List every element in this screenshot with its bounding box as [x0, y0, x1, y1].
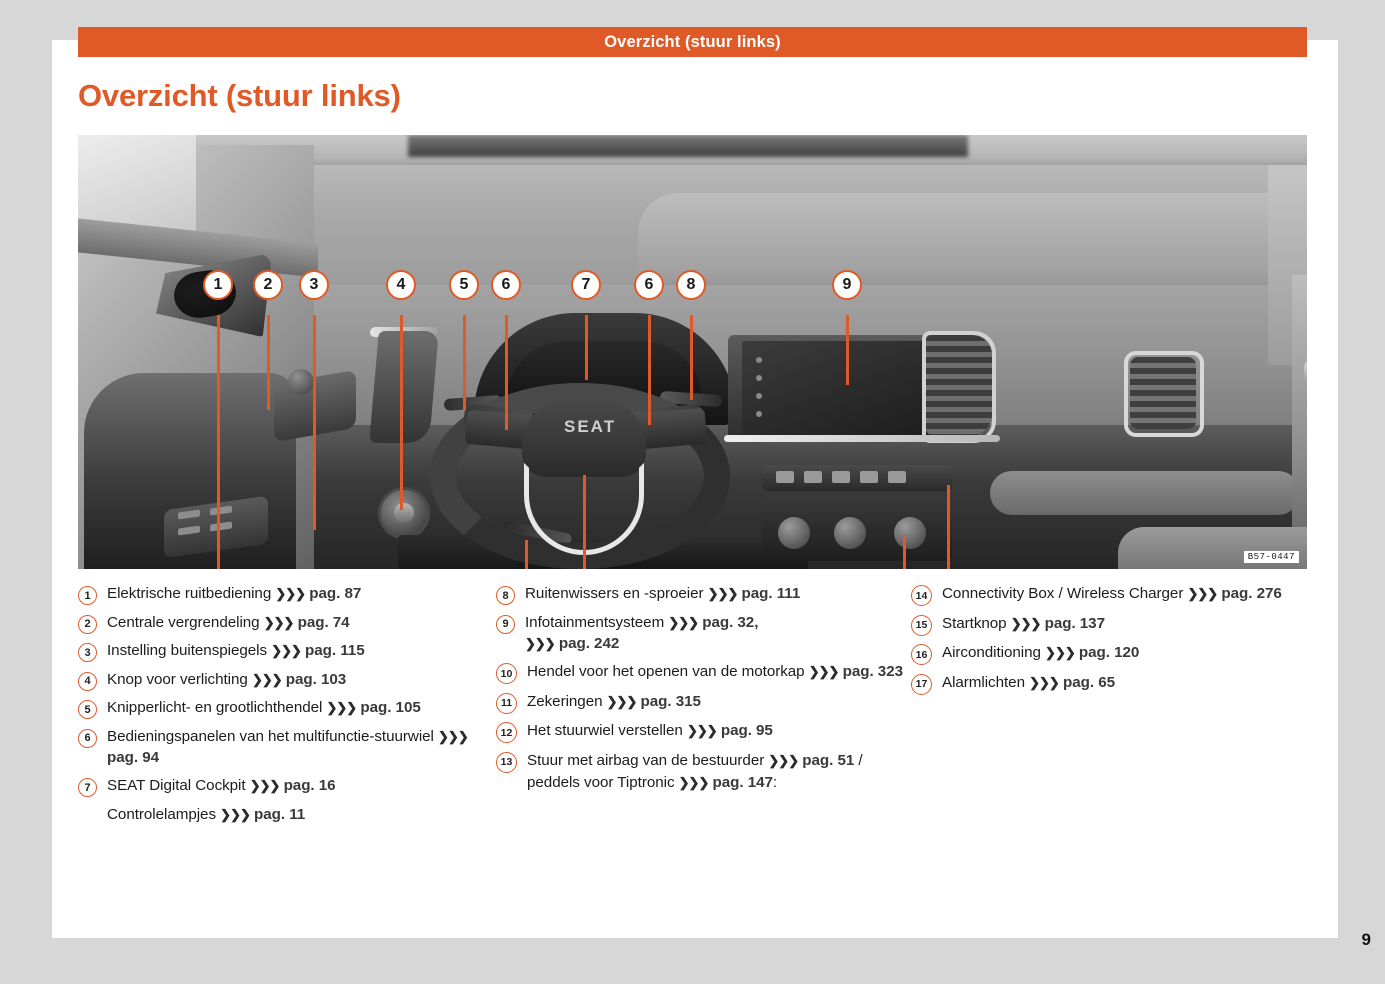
glovebox-lid [990, 471, 1300, 515]
callout-leader-4 [400, 315, 403, 510]
center-vent-chrome [922, 331, 996, 443]
left-air-vent [369, 331, 439, 443]
figure-callout-3[interactable]: 3 [299, 270, 329, 300]
cross-reference-arrows-icon: ❯❯❯ [687, 723, 717, 738]
photo-reference-code: B57-0447 [1244, 551, 1299, 563]
legend-label: Bedieningspanelen van het multifunctie-s… [107, 726, 496, 769]
page-reference[interactable]: pag. 115 [301, 642, 365, 659]
legend-item-3: 3Instelling buitenspiegels ❯❯❯ pag. 115 [78, 640, 496, 662]
legend-marker-8: 8 [496, 586, 515, 605]
legend-marker-11: 11 [496, 693, 517, 714]
callout-leader-16 [903, 535, 906, 569]
legend-column-3: 14Connectivity Box / Wireless Charger ❯❯… [911, 583, 1307, 883]
page-number: 9 [1362, 930, 1371, 950]
console-button-2 [804, 471, 822, 483]
legend-label: Ruitenwissers en -sproeier ❯❯❯ pag. 111 [525, 583, 800, 605]
page-reference[interactable]: pag. 105 [356, 699, 421, 716]
page-reference[interactable]: pag. 11 [250, 806, 305, 823]
running-header-title: Overzicht (stuur links) [604, 33, 781, 52]
console-button-4 [860, 471, 878, 483]
callout-leader-13 [583, 475, 586, 569]
cross-reference-arrows-icon: ❯❯❯ [1029, 675, 1059, 690]
cross-reference-arrows-icon: ❯❯❯ [275, 586, 305, 601]
legend-marker-14: 14 [911, 585, 932, 606]
legend-marker-5: 5 [78, 700, 97, 719]
page-reference[interactable]: pag. 111 [737, 585, 800, 602]
cross-reference-arrows-icon: ❯❯❯ [607, 694, 637, 709]
page-title: Overzicht (stuur links) [78, 78, 401, 114]
legend-item-9: 9Infotainmentsysteem ❯❯❯ pag. 32,❯❯❯ pag… [496, 612, 911, 655]
passenger-vent-chrome [1124, 351, 1204, 437]
infotainment-key-1 [756, 357, 762, 363]
legend-item-12: 12Het stuurwiel verstellen ❯❯❯ pag. 95 [496, 720, 911, 743]
callout-leader-7 [585, 315, 588, 380]
callout-leader-1 [217, 315, 220, 569]
legend-item-13: 13Stuur met airbag van de bestuurder ❯❯❯… [496, 750, 911, 793]
passenger-door-handle [1304, 361, 1307, 383]
legend-item-continuation: Controlelampjes ❯❯❯ pag. 11 [78, 804, 496, 826]
legend-item-5: 5Knipperlicht- en grootlichthendel ❯❯❯ p… [78, 697, 496, 719]
legend-label: Instelling buitenspiegels ❯❯❯ pag. 115 [107, 640, 365, 662]
cross-reference-arrows-icon: ❯❯❯ [708, 586, 738, 601]
legend-marker-2: 2 [78, 615, 97, 634]
infotainment-key-3 [756, 393, 762, 399]
legend-item-17: 17Alarmlichten ❯❯❯ pag. 65 [911, 672, 1307, 695]
dashboard-photo: SEAT [78, 135, 1307, 569]
callout-leader-17 [947, 485, 950, 569]
legend-column-1: 1Elektrische ruitbediening ❯❯❯ pag. 872C… [78, 583, 496, 883]
figure-callout-4[interactable]: 4 [386, 270, 416, 300]
cross-reference-arrows-icon: ❯❯❯ [679, 775, 709, 790]
legend-item-6: 6Bedieningspanelen van het multifunctie-… [78, 726, 496, 769]
legend-marker-16: 16 [911, 644, 932, 665]
legend-item-16: 16Airconditioning ❯❯❯ pag. 120 [911, 642, 1307, 665]
figure-callout-7[interactable]: 7 [571, 270, 601, 300]
climate-knob-right [894, 517, 926, 549]
cross-reference-arrows-icon: ❯❯❯ [327, 700, 357, 715]
cross-reference-arrows-icon: ❯❯❯ [220, 807, 250, 822]
page-reference[interactable]: pag. 103 [282, 671, 347, 688]
infotainment-key-4 [756, 411, 762, 417]
page-reference[interactable]: pag. 147 [708, 774, 773, 791]
page-reference[interactable]: pag. 120 [1075, 644, 1140, 661]
running-header-bar: Overzicht (stuur links) [78, 27, 1307, 57]
seat-logo: SEAT [564, 417, 606, 437]
cross-reference-arrows-icon: ❯❯❯ [438, 729, 468, 744]
infotainment-key-2 [756, 375, 762, 381]
legend-label: Startknop ❯❯❯ pag. 137 [942, 613, 1105, 635]
legend-item-15: 15Startknop ❯❯❯ pag. 137 [911, 613, 1307, 636]
legend-label: Airconditioning ❯❯❯ pag. 120 [942, 642, 1139, 664]
legend-marker-9: 9 [496, 615, 515, 634]
legend-item-11: 11Zekeringen ❯❯❯ pag. 315 [496, 691, 911, 714]
cross-reference-arrows-icon: ❯❯❯ [250, 778, 280, 793]
page-reference[interactable]: pag. 315 [636, 693, 701, 710]
legend-label: Infotainmentsysteem ❯❯❯ pag. 32,❯❯❯ pag.… [525, 612, 758, 655]
console-button-5 [888, 471, 906, 483]
legend-label: SEAT Digital Cockpit ❯❯❯ pag. 16 [107, 775, 336, 797]
headlight-switch-knob [394, 503, 414, 523]
cross-reference-arrows-icon: ❯❯❯ [1188, 586, 1218, 601]
page-reference[interactable]: pag. 16 [279, 777, 335, 794]
callout-leader-8 [690, 315, 693, 400]
legend-marker-1: 1 [78, 586, 97, 605]
callout-leader-2 [267, 315, 270, 410]
cross-reference-arrows-icon: ❯❯❯ [668, 615, 698, 630]
figure-callout-6[interactable]: 6 [634, 270, 664, 300]
legend-marker-6: 6 [78, 729, 97, 748]
legend-column-2: 8Ruitenwissers en -sproeier ❯❯❯ pag. 111… [496, 583, 911, 883]
callout-leader-9 [846, 315, 849, 385]
legend-item-2: 2Centrale vergrendeling ❯❯❯ pag. 74 [78, 612, 496, 634]
legend-label: Stuur met airbag van de bestuurder ❯❯❯ p… [527, 750, 911, 793]
page-reference[interactable]: pag. 65 [1059, 674, 1115, 691]
figure-legend: 1Elektrische ruitbediening ❯❯❯ pag. 872C… [78, 583, 1307, 883]
legend-label: Controlelampjes ❯❯❯ pag. 11 [107, 804, 305, 826]
cross-reference-arrows-icon: ❯❯❯ [252, 672, 282, 687]
windshield-shade [408, 135, 968, 157]
manual-page-root: Overzicht (stuur links) Overzicht (stuur… [0, 0, 1385, 984]
legend-label: Knipperlicht- en grootlichthendel ❯❯❯ pa… [107, 697, 421, 719]
legend-marker-15: 15 [911, 615, 932, 636]
legend-item-4: 4Knop voor verlichting ❯❯❯ pag. 103 [78, 669, 496, 691]
legend-marker-10: 10 [496, 663, 517, 684]
figure-callout-1[interactable]: 1 [203, 270, 233, 300]
page-reference[interactable]: pag. 323 [838, 663, 903, 680]
legend-label: Zekeringen ❯❯❯ pag. 315 [527, 691, 701, 713]
figure-callout-2[interactable]: 2 [253, 270, 283, 300]
page-reference[interactable]: pag. 51 [798, 752, 854, 769]
legend-item-1: 1Elektrische ruitbediening ❯❯❯ pag. 87 [78, 583, 496, 605]
cross-reference-arrows-icon: ❯❯❯ [1011, 616, 1041, 631]
legend-item-7: 7SEAT Digital Cockpit ❯❯❯ pag. 16 [78, 775, 496, 797]
figure-callout-5[interactable]: 5 [449, 270, 479, 300]
cross-reference-arrows-icon: ❯❯❯ [768, 753, 798, 768]
mirror-adjust-knob [288, 369, 314, 395]
passenger-door-panel [1292, 275, 1307, 569]
cross-reference-arrows-icon: ❯❯❯ [809, 664, 839, 679]
figure-callout-6[interactable]: 6 [491, 270, 521, 300]
legend-item-14: 14Connectivity Box / Wireless Charger ❯❯… [911, 583, 1307, 606]
legend-label: Het stuurwiel verstellen ❯❯❯ pag. 95 [527, 720, 773, 742]
legend-marker-blank [78, 807, 97, 826]
legend-marker-3: 3 [78, 643, 97, 662]
cross-reference-arrows-icon: ❯❯❯ [525, 636, 555, 651]
console-button-3 [832, 471, 850, 483]
legend-label: Centrale vergrendeling ❯❯❯ pag. 74 [107, 612, 350, 634]
figure-callout-8[interactable]: 8 [676, 270, 706, 300]
callout-leader-6 [505, 315, 508, 430]
legend-marker-12: 12 [496, 722, 517, 743]
page-reference[interactable]: pag. 137 [1040, 615, 1105, 632]
legend-label: Elektrische ruitbediening ❯❯❯ pag. 87 [107, 583, 361, 605]
climate-knob-left [778, 517, 810, 549]
hazard-light-button [776, 471, 794, 483]
legend-item-8: 8Ruitenwissers en -sproeier ❯❯❯ pag. 111 [496, 583, 911, 605]
page-reference[interactable]: pag. 94 [107, 749, 159, 766]
legend-marker-17: 17 [911, 674, 932, 695]
legend-item-10: 10Hendel voor het openen van de motorkap… [496, 661, 911, 684]
callout-leader-6 [648, 315, 651, 425]
callout-leader-5 [463, 315, 466, 410]
legend-label: Hendel voor het openen van de motorkap ❯… [527, 661, 903, 683]
climate-knob-center [834, 517, 866, 549]
figure-callout-9[interactable]: 9 [832, 270, 862, 300]
page-reference[interactable]: pag. 87 [305, 585, 361, 602]
cross-reference-arrows-icon: ❯❯❯ [271, 643, 301, 658]
callout-leader-12 [525, 540, 528, 569]
page-reference[interactable]: pag. 242 [555, 635, 620, 652]
dashboard-figure: SEAT [78, 135, 1307, 569]
cross-reference-arrows-icon: ❯❯❯ [1045, 645, 1075, 660]
legend-marker-4: 4 [78, 672, 97, 691]
cross-reference-arrows-icon: ❯❯❯ [264, 615, 294, 630]
legend-label: Alarmlichten ❯❯❯ pag. 65 [942, 672, 1115, 694]
legend-label: Connectivity Box / Wireless Charger ❯❯❯ … [942, 583, 1282, 605]
page-reference[interactable]: pag. 95 [717, 722, 773, 739]
legend-marker-13: 13 [496, 752, 517, 773]
page-reference[interactable]: pag. 276 [1217, 585, 1282, 602]
legend-label: Knop voor verlichting ❯❯❯ pag. 103 [107, 669, 346, 691]
page-reference[interactable]: pag. 32, [698, 614, 758, 631]
callout-leader-3 [313, 315, 316, 530]
dashboard-chrome-strip [724, 435, 1000, 442]
legend-marker-7: 7 [78, 778, 97, 797]
page-reference[interactable]: pag. 74 [293, 614, 349, 631]
